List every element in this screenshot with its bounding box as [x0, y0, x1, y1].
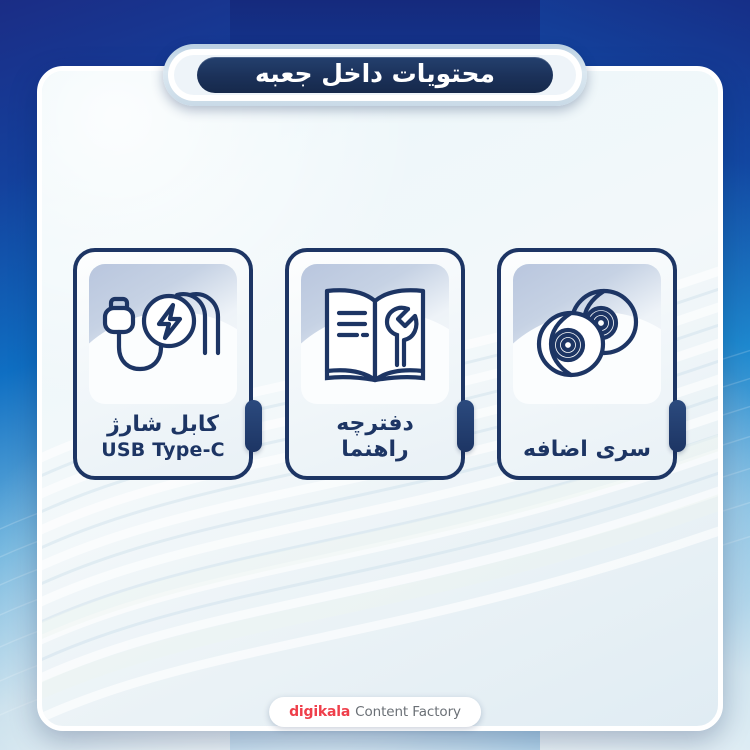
card-manual[interactable]: دفترچه راهنما [285, 248, 465, 480]
poster-canvas: محتویات داخل جعبه [0, 0, 750, 750]
card-extra-eartips[interactable]: سری اضافه [497, 248, 677, 480]
card-icon-background [301, 264, 449, 404]
card-label-line2: USB Type-C [87, 440, 239, 462]
manual-book-wrench-icon [301, 264, 449, 404]
title-pill: محتویات داخل جعبه [197, 57, 553, 93]
card-label: کابل شارژ USB Type-C [87, 412, 239, 462]
digikala-content-factory-badge: digikala Content Factory [269, 697, 481, 727]
content-factory-text: Content Factory [355, 704, 461, 720]
card-label-line1: دفترچه راهنما [299, 411, 451, 462]
card-label-line1: کابل شارژ [87, 412, 239, 437]
eartips-icon [513, 264, 661, 404]
card-label: دفترچه راهنما [299, 411, 451, 462]
card-body: سری اضافه [497, 248, 677, 480]
card-accent-bar [245, 400, 262, 452]
card-accent-bar [669, 400, 686, 452]
card-body: کابل شارژ USB Type-C [73, 248, 253, 480]
card-label: سری اضافه [511, 437, 663, 462]
card-label-line1: سری اضافه [511, 437, 663, 462]
contents-card-row: سری اضافه [0, 248, 750, 488]
page-title: محتویات داخل جعبه [255, 61, 495, 89]
usb-c-cable-lightning-icon [89, 264, 237, 404]
title-banner: محتویات داخل جعبه [163, 44, 587, 106]
digikala-logo-text: digikala [289, 704, 350, 720]
card-icon-background [513, 264, 661, 404]
card-icon-background [89, 264, 237, 404]
card-body: دفترچه راهنما [285, 248, 465, 480]
card-accent-bar [457, 400, 474, 452]
card-charging-cable[interactable]: کابل شارژ USB Type-C [73, 248, 253, 480]
